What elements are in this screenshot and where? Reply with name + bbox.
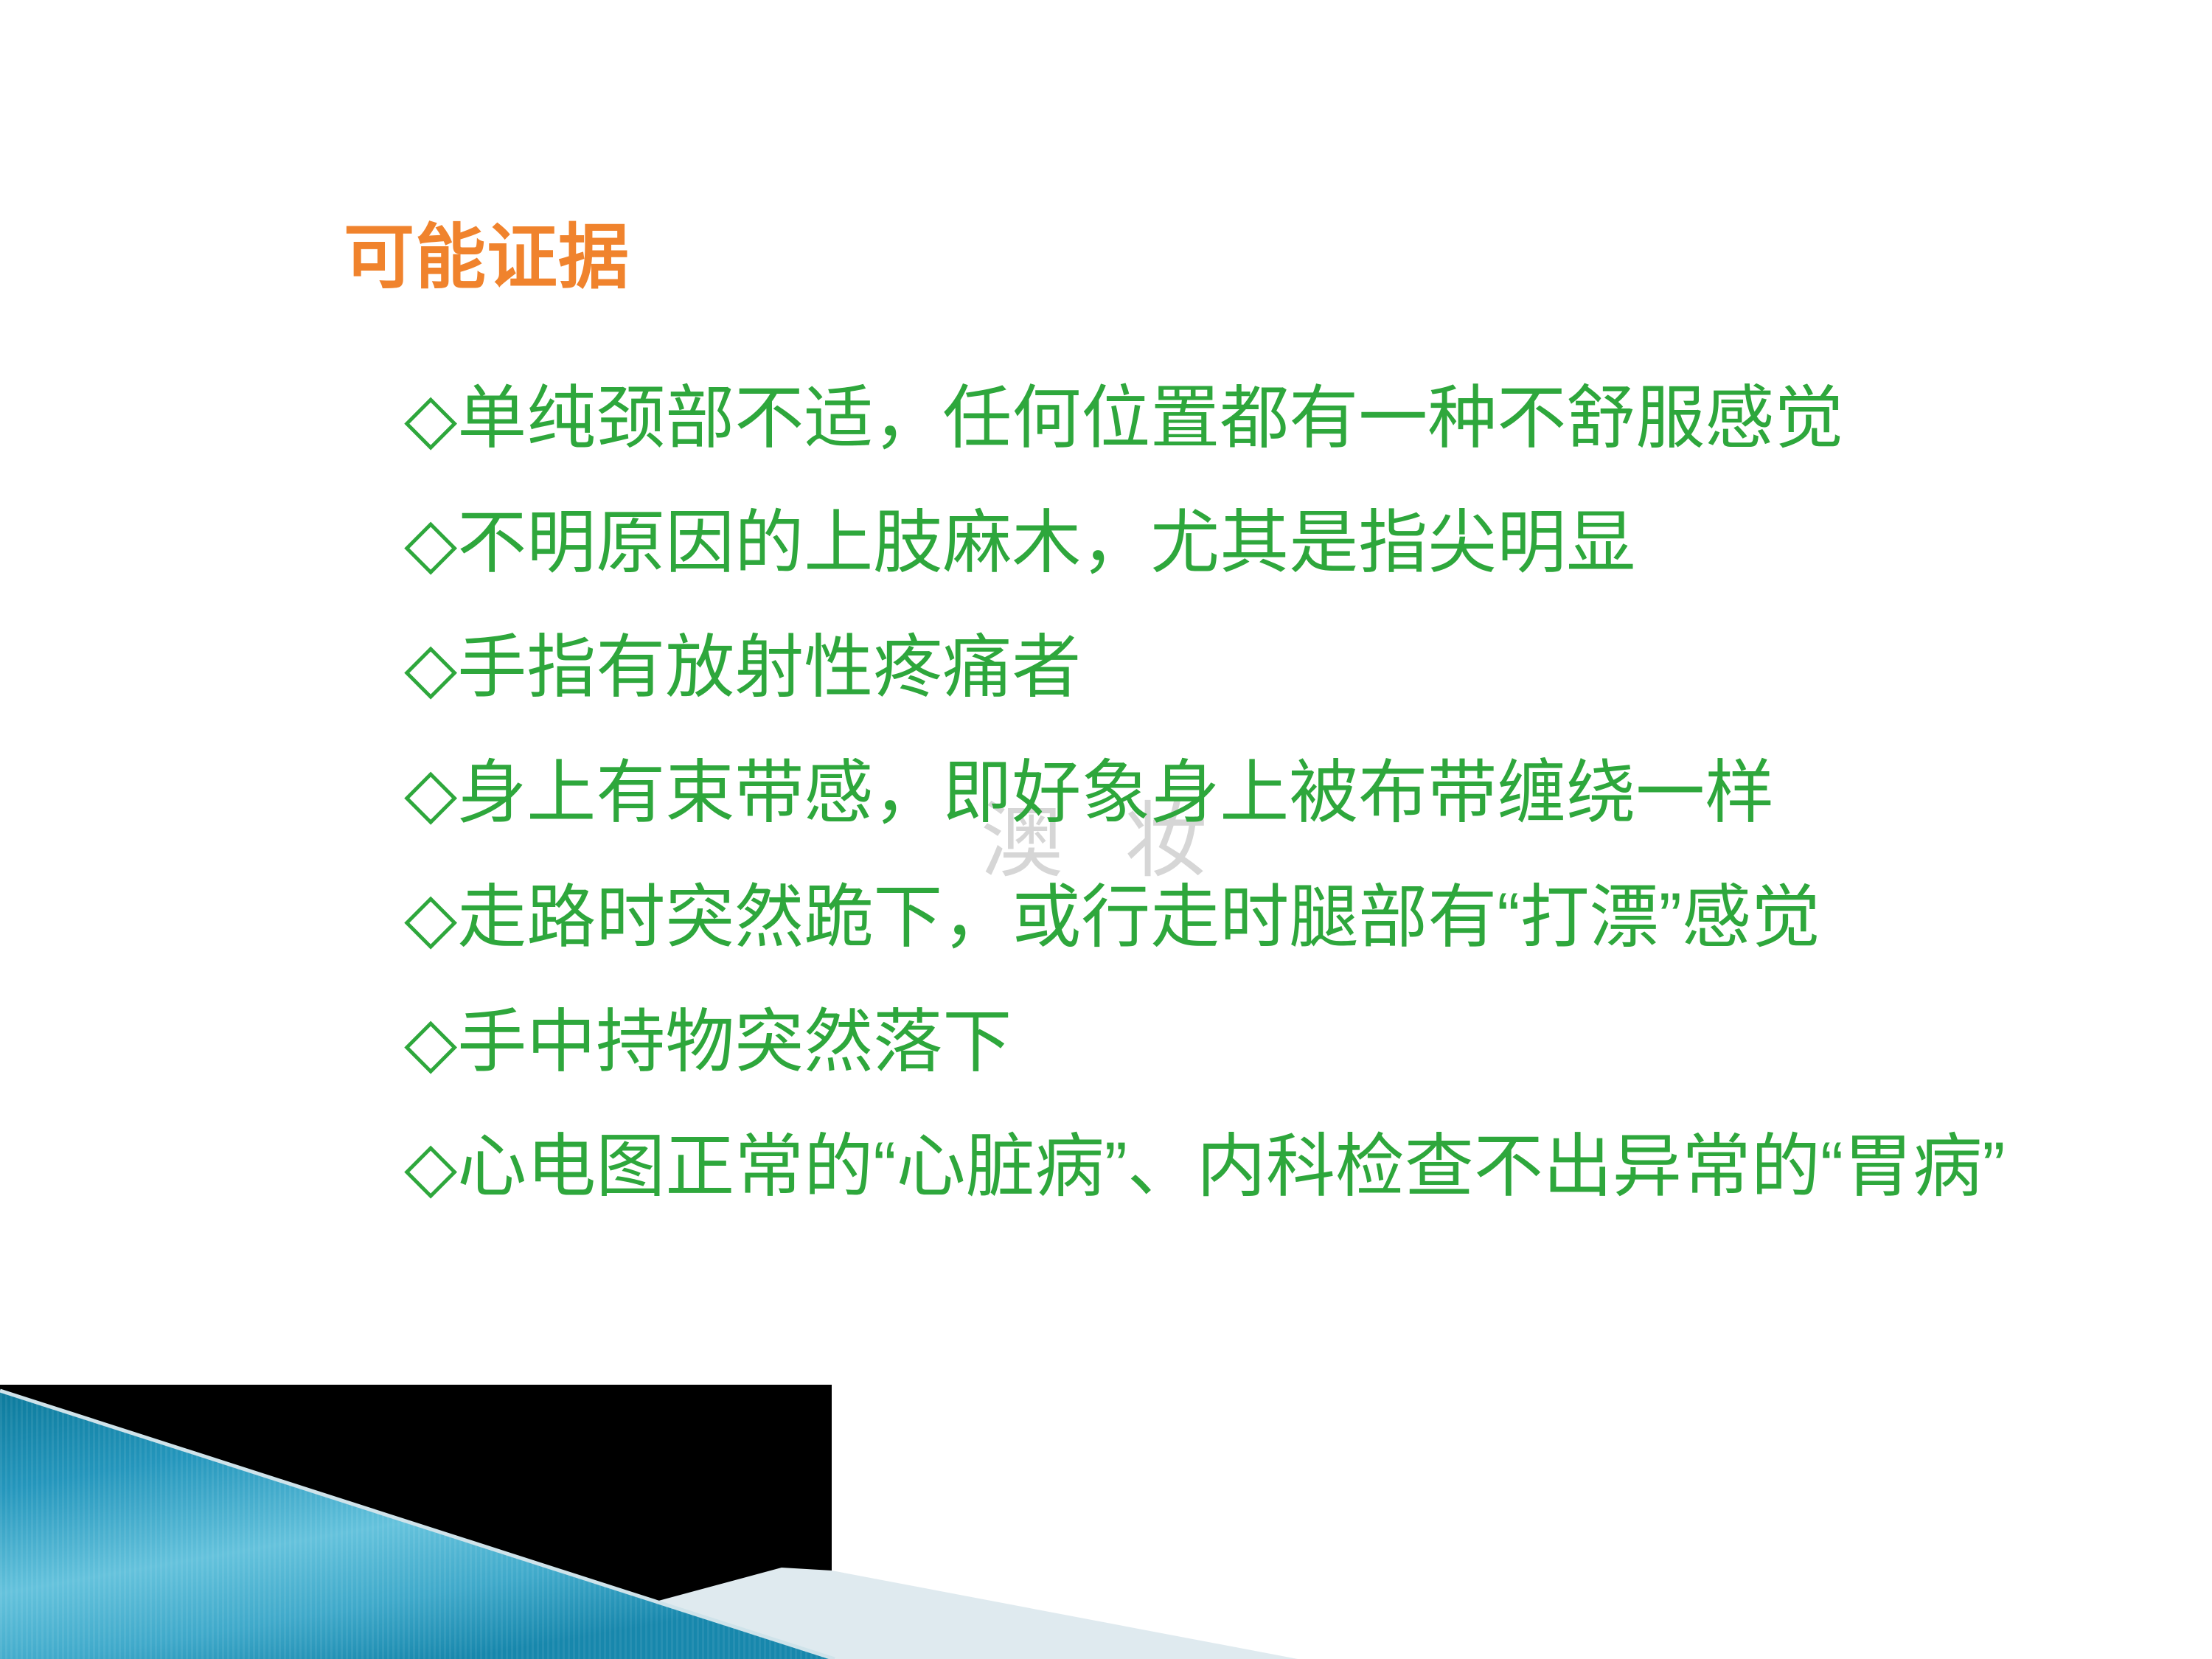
list-item: ◇手指有放射性疼痛者 <box>404 605 2115 729</box>
corner-banner-decoration-icon <box>0 1349 2212 1659</box>
decor-black-block <box>0 1385 832 1659</box>
list-item: ◇不明原因的上肢麻木，尤其是指尖明显 <box>404 480 2115 605</box>
decor-pale-band <box>832 1571 1298 1659</box>
page-title: 可能证据 <box>344 218 630 298</box>
slide-canvas: 澳 妆 可能证据 ◇单纯颈部不适，任何位置都有一种不舒服感觉 ◇不明原因的上肢麻… <box>0 0 2212 1659</box>
list-item: ◇心电图正常的“心脏病”、内科检查不出异常的“胃病” <box>404 1104 2115 1228</box>
decor-pale-band-left <box>442 1568 832 1659</box>
list-item: ◇单纯颈部不适，任何位置都有一种不舒服感觉 <box>404 355 2115 480</box>
list-item: ◇身上有束带感，即好象身上被布带缠绕一样 <box>404 730 2115 855</box>
list-item: ◇手中持物突然落下 <box>404 979 2115 1104</box>
list-item: ◇走路时突然跪下，或行走时腿部有“打漂”感觉 <box>404 855 2115 979</box>
decor-teal-triangle <box>0 1349 885 1659</box>
decor-black-wedge <box>317 1571 832 1659</box>
evidence-bullet-list: ◇单纯颈部不适，任何位置都有一种不舒服感觉 ◇不明原因的上肢麻木，尤其是指尖明显… <box>404 355 2115 1228</box>
